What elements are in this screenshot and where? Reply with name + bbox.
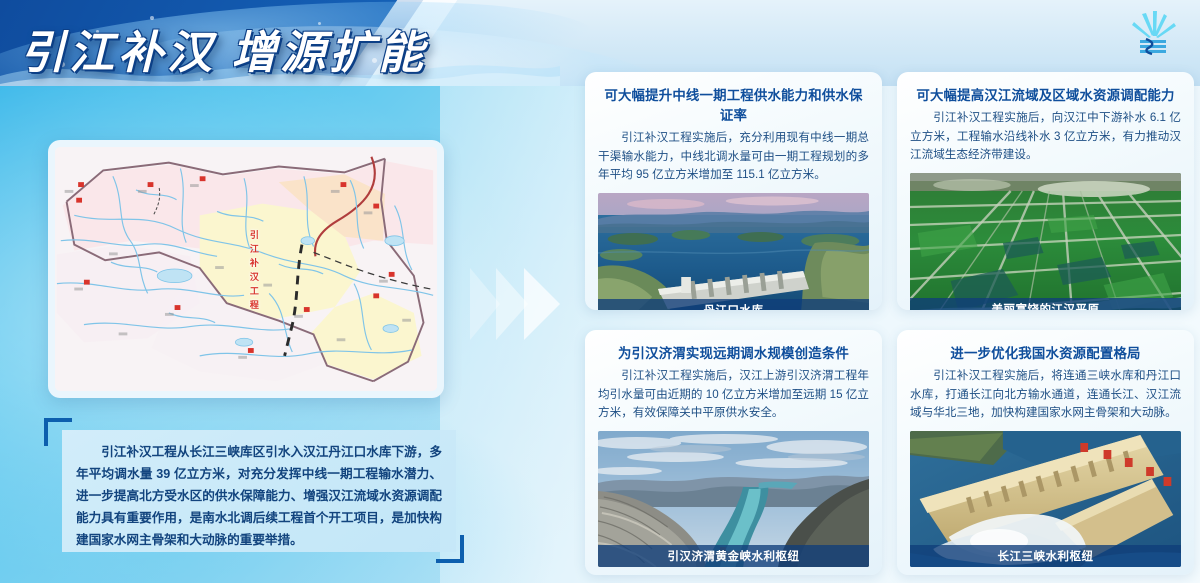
card-3-body: 引江补汉工程实施后，汉江上游引汉济渭工程年均引水量可由近期的 10 亿立方米增加… <box>598 367 869 423</box>
info-card-1[interactable]: 可大幅提升中线一期工程供水能力和供水保证率 引江补汉工程实施后，充分利用现有中线… <box>585 72 882 310</box>
info-card-4[interactable]: 进一步优化我国水资源配置格局 引江补汉工程实施后，将连通三峡水库和丹江口水库，打… <box>897 330 1194 575</box>
card-2-photo[interactable]: 美丽富饶的江汉平原 <box>910 173 1181 311</box>
card-2-body: 引江补汉工程实施后，向汉江中下游补水 6.1 亿立方米，工程输水沿线补水 3 亿… <box>910 109 1181 165</box>
card-3-photo[interactable]: 引汉济渭黄金峡水利枢纽 <box>598 431 869 567</box>
card-2-title: 可大幅提高汉江流域及区域水资源调配能力 <box>910 84 1181 104</box>
project-brief-text: 引江补汉工程从长江三峡库区引水入汉江丹江口水库下游，多年平均调水量 39 亿立方… <box>76 441 442 551</box>
chevron-right-decoration <box>470 268 590 344</box>
map-panel[interactable]: 引江补汉工程 <box>48 140 444 398</box>
map-route-label: 引江补汉工程 <box>248 230 261 314</box>
card-1-title: 可大幅提升中线一期工程供水能力和供水保证率 <box>598 84 869 124</box>
card-4-title: 进一步优化我国水资源配置格局 <box>910 342 1181 362</box>
card-2-caption: 美丽富饶的江汉平原 <box>910 298 1181 311</box>
card-4-body: 引江补汉工程实施后，将连通三峡水库和丹江口水库，打通长江向北方输水通道，连通长江… <box>910 367 1181 423</box>
danjiangkou-reservoir-image <box>598 193 869 311</box>
card-1-body: 引江补汉工程实施后，充分利用现有中线一期总干渠输水能力，中线北调水量可由一期工程… <box>598 129 869 185</box>
page-title: 引江补汉 增源扩能 <box>20 16 427 81</box>
card-1-photo[interactable]: 丹江口水库 <box>598 193 869 311</box>
info-card-3[interactable]: 为引汉济渭实现远期调水规模创造条件 引江补汉工程实施后，汉江上游引汉济渭工程年均… <box>585 330 882 575</box>
jianghan-plain-farmland-image <box>910 173 1181 311</box>
infographic-poster: 引江补汉 增源扩能 <box>0 0 1200 583</box>
han-river-basin-map <box>55 147 437 391</box>
card-4-photo[interactable]: 长江三峡水利枢纽 <box>910 431 1181 567</box>
card-4-caption: 长江三峡水利枢纽 <box>910 545 1181 567</box>
map-image[interactable]: 引江补汉工程 <box>55 147 437 391</box>
card-3-title: 为引汉济渭实现远期调水规模创造条件 <box>598 342 869 362</box>
project-brief: 引江补汉工程从长江三峡库区引水入汉江丹江口水库下游，多年平均调水量 39 亿立方… <box>44 418 464 563</box>
card-1-caption: 丹江口水库 <box>598 299 869 311</box>
card-3-caption: 引汉济渭黄金峡水利枢纽 <box>598 545 869 567</box>
info-card-2[interactable]: 可大幅提高汉江流域及区域水资源调配能力 引江补汉工程实施后，向汉江中下游补水 6… <box>897 72 1194 310</box>
project-brief-box: 引江补汉工程从长江三峡库区引水入汉江丹江口水库下游，多年平均调水量 39 亿立方… <box>62 430 456 552</box>
water-rays-emblem-icon <box>1124 8 1182 60</box>
